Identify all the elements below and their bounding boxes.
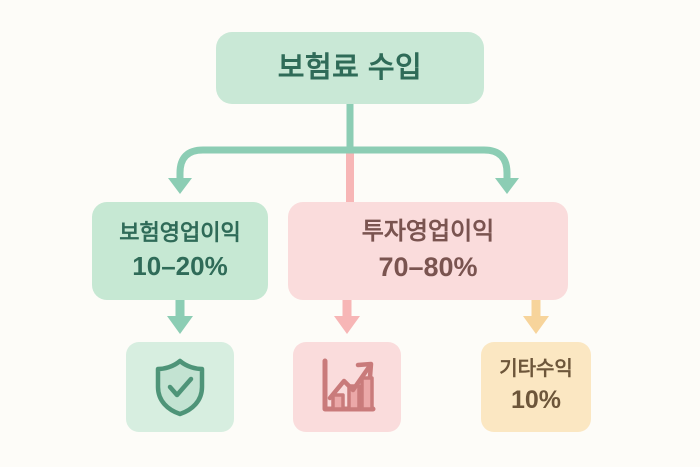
connector-branch-right xyxy=(350,150,507,180)
connector-branch-left-arrowhead xyxy=(168,178,192,194)
node-investment-operating-profit[interactable]: 투자영업이익 70–80% xyxy=(288,202,568,300)
node-investment-value: 70–80% xyxy=(378,252,477,284)
connector-branch-right-arrowhead xyxy=(495,178,519,194)
node-other-income-value: 10% xyxy=(511,386,561,416)
node-insurance-label: 보험영업이익 xyxy=(119,220,240,246)
connector-investment-to-growth-arrowhead xyxy=(334,316,360,334)
node-shield-card[interactable] xyxy=(126,342,234,432)
node-insurance-operating-profit[interactable]: 보험영업이익 10–20% xyxy=(92,202,268,300)
growth-bar-chart-icon xyxy=(316,357,378,417)
node-other-income[interactable]: 기타수익 10% xyxy=(481,342,591,432)
node-root-label: 보험료 수입 xyxy=(278,51,422,85)
node-other-income-label: 기타수익 xyxy=(499,358,573,382)
connector-branch-left xyxy=(180,150,350,180)
node-investment-label: 투자영업이익 xyxy=(362,218,494,246)
node-insurance-value: 10–20% xyxy=(132,251,227,282)
node-growth-card[interactable] xyxy=(293,342,401,432)
connector-insurance-to-shield-arrowhead xyxy=(167,316,193,334)
connector-investment-to-other-arrowhead xyxy=(523,316,549,334)
shield-check-icon xyxy=(151,356,209,418)
node-insurance-premium-revenue[interactable]: 보험료 수입 xyxy=(216,32,484,104)
insurance-revenue-flow-diagram: 보험료 수입 보험영업이익 10–20% 투자영업이익 70–80% xyxy=(0,0,700,467)
